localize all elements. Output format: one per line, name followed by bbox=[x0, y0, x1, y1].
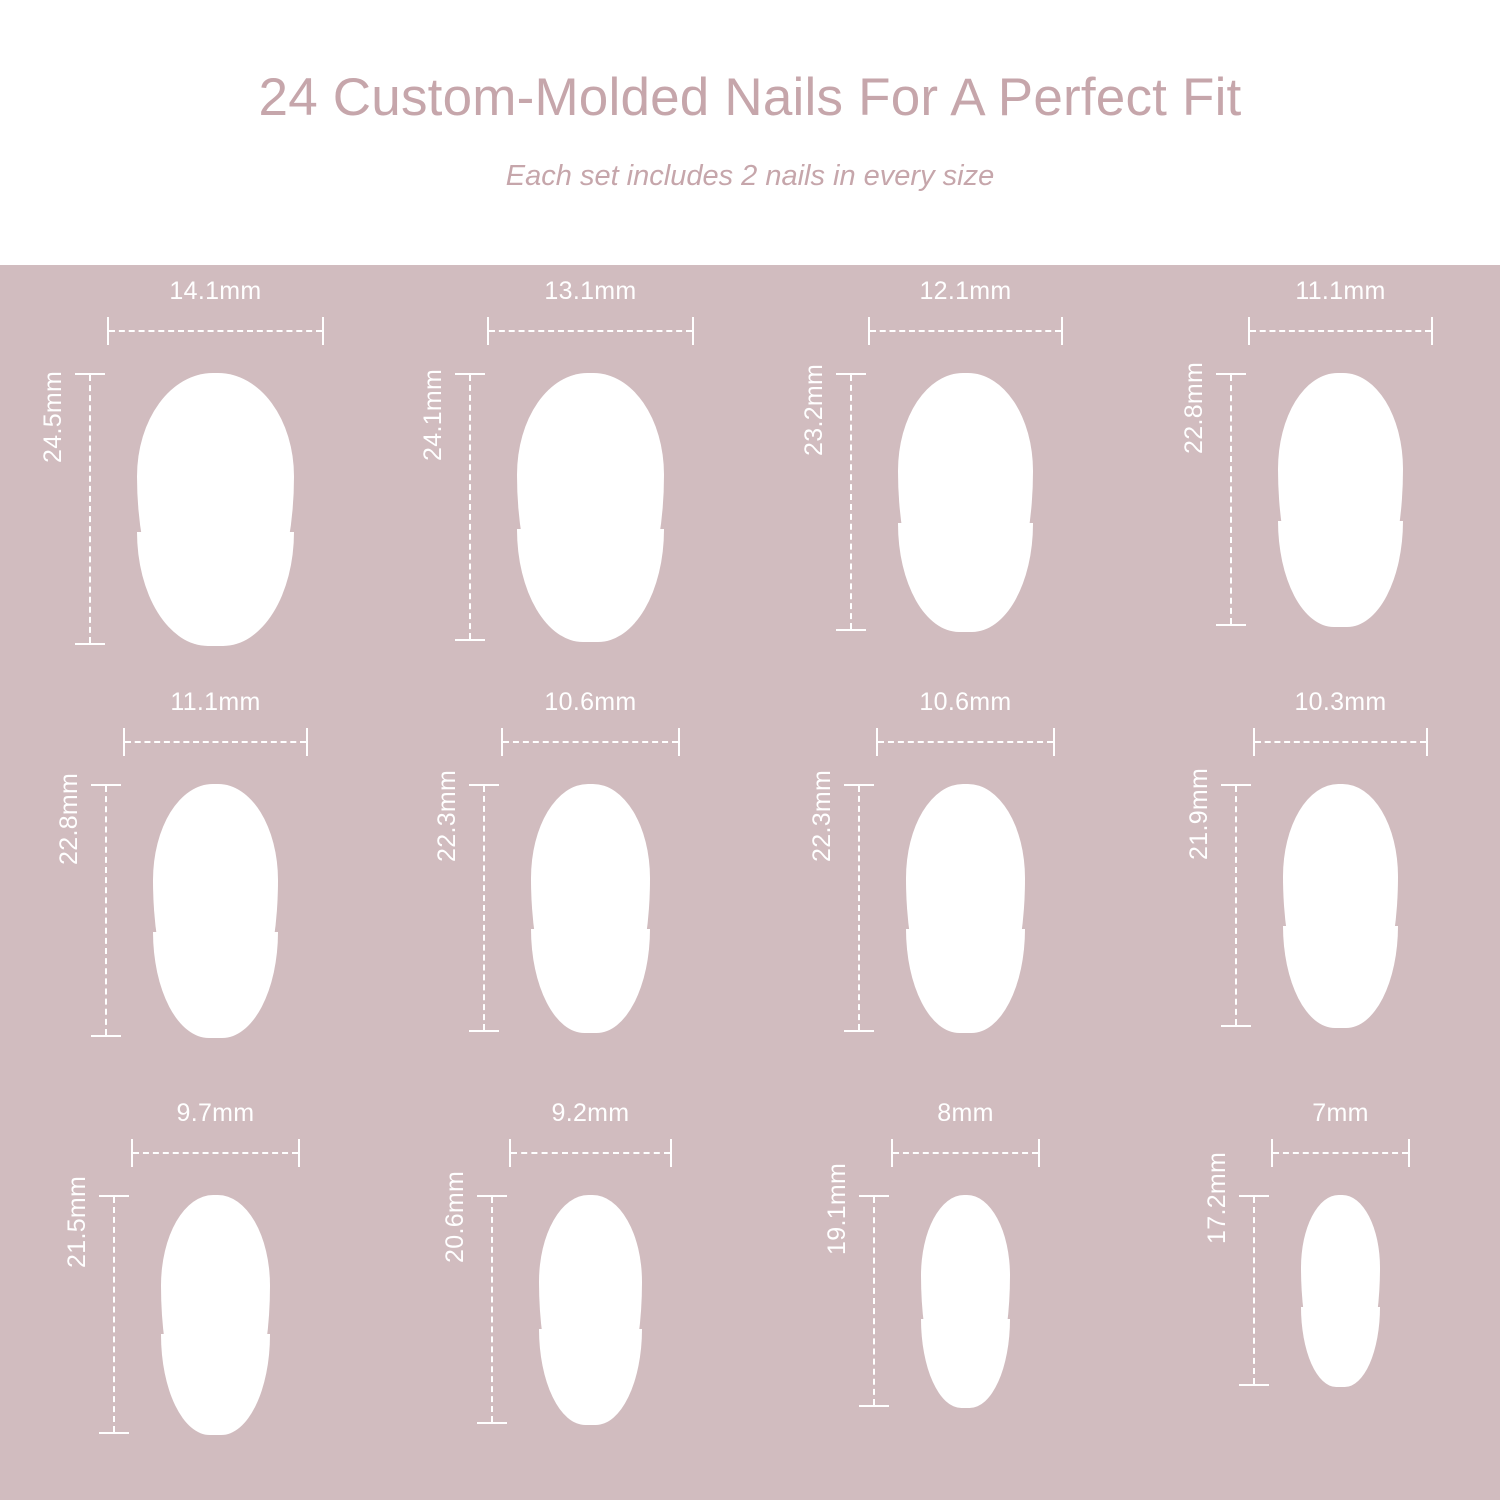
nail-width-dimension-line bbox=[487, 317, 694, 345]
width-dimension-cap-right bbox=[692, 317, 694, 345]
nail-width-label: 12.1mm bbox=[858, 279, 1074, 304]
nail-shape bbox=[921, 1195, 1011, 1407]
width-dimension-dashes bbox=[503, 741, 678, 743]
nail-shape bbox=[1278, 373, 1402, 626]
nail-size-cell-inner: 14.1mm24.5mm bbox=[0, 265, 375, 676]
width-dimension-cap-right bbox=[678, 728, 680, 756]
height-dimension-cap-bottom bbox=[836, 629, 866, 631]
nail-size-cell: 7mm17.2mm bbox=[1125, 1087, 1500, 1498]
nail-height-label: 22.8mm bbox=[57, 772, 82, 864]
nail-width-dimension-line bbox=[131, 1139, 300, 1167]
nail-size-cell-inner: 10.3mm21.9mm bbox=[1125, 676, 1500, 1087]
nail-width-label: 11.1mm bbox=[113, 690, 317, 715]
nail-size-cell-inner: 8mm19.1mm bbox=[750, 1087, 1125, 1498]
width-dimension-cap-right bbox=[1038, 1139, 1040, 1167]
height-dimension-cap-bottom bbox=[844, 1030, 874, 1032]
width-dimension-dashes bbox=[1250, 330, 1430, 332]
nail-size-chart: 14.1mm24.5mm13.1mm24.1mm12.1mm23.2mm11.1… bbox=[0, 265, 1500, 1500]
height-dimension-dashes bbox=[113, 1197, 115, 1432]
height-dimension-cap-bottom bbox=[477, 1422, 507, 1424]
nail-shape bbox=[531, 784, 650, 1032]
height-dimension-dashes bbox=[858, 786, 860, 1030]
height-dimension-dashes bbox=[1235, 786, 1237, 1025]
width-dimension-dashes bbox=[109, 330, 323, 332]
nail-size-cell-inner: 11.1mm22.8mm bbox=[1125, 265, 1500, 676]
nail-size-cell: 14.1mm24.5mm bbox=[0, 265, 375, 676]
nail-height-dimension-line bbox=[1239, 1195, 1269, 1386]
nail-width-dimension-line bbox=[501, 728, 680, 756]
nail-size-cell: 13.1mm24.1mm bbox=[375, 265, 750, 676]
nail-shape bbox=[517, 373, 664, 641]
height-dimension-cap-bottom bbox=[1239, 1384, 1269, 1386]
nail-height-label: 20.6mm bbox=[443, 1171, 468, 1263]
height-dimension-dashes bbox=[469, 375, 471, 639]
nail-width-dimension-line bbox=[123, 728, 307, 756]
height-dimension-cap-bottom bbox=[91, 1035, 121, 1037]
page-subtitle: Each set includes 2 nails in every size bbox=[506, 160, 994, 193]
width-dimension-cap-right bbox=[1061, 317, 1063, 345]
nail-size-cell: 11.1mm22.8mm bbox=[0, 676, 375, 1087]
nail-width-dimension-line bbox=[868, 317, 1064, 345]
header-band: 24 Custom-Molded Nails For A Perfect Fit… bbox=[0, 0, 1500, 265]
nail-size-cell: 8mm19.1mm bbox=[750, 1087, 1125, 1498]
nail-shape bbox=[539, 1195, 642, 1424]
nail-width-label: 10.6mm bbox=[866, 690, 1065, 715]
nail-shape bbox=[161, 1195, 270, 1434]
width-dimension-cap-right bbox=[298, 1139, 300, 1167]
nail-size-cell-inner: 13.1mm24.1mm bbox=[375, 265, 750, 676]
width-dimension-dashes bbox=[1255, 741, 1426, 743]
nail-shape bbox=[137, 373, 295, 645]
nail-size-cell: 10.3mm21.9mm bbox=[1125, 676, 1500, 1087]
width-dimension-dashes bbox=[878, 741, 1053, 743]
nail-width-label: 11.1mm bbox=[1238, 279, 1442, 304]
nail-height-label: 17.2mm bbox=[1205, 1152, 1230, 1244]
page-title: 24 Custom-Molded Nails For A Perfect Fit bbox=[259, 70, 1242, 126]
nail-width-dimension-line bbox=[891, 1139, 1041, 1167]
nail-width-label: 8mm bbox=[881, 1101, 1051, 1126]
nail-width-label: 9.2mm bbox=[499, 1101, 682, 1126]
nail-size-cell: 12.1mm23.2mm bbox=[750, 265, 1125, 676]
width-dimension-cap-right bbox=[1408, 1139, 1410, 1167]
width-dimension-dashes bbox=[133, 1152, 298, 1154]
nail-height-label: 24.5mm bbox=[41, 371, 66, 463]
nail-width-label: 10.6mm bbox=[491, 690, 690, 715]
nail-height-dimension-line bbox=[99, 1195, 129, 1434]
nail-size-cell-inner: 10.6mm22.3mm bbox=[750, 676, 1125, 1087]
nail-height-dimension-line bbox=[91, 784, 121, 1037]
nail-height-label: 22.3mm bbox=[810, 770, 835, 862]
nail-width-dimension-line bbox=[1253, 728, 1428, 756]
width-dimension-dashes bbox=[125, 741, 305, 743]
nail-shape bbox=[1283, 784, 1398, 1027]
width-dimension-cap-right bbox=[322, 317, 324, 345]
height-dimension-cap-bottom bbox=[455, 639, 485, 641]
nail-height-label: 24.1mm bbox=[421, 369, 446, 461]
nail-size-cell-inner: 7mm17.2mm bbox=[1125, 1087, 1500, 1498]
nail-height-dimension-line bbox=[836, 373, 866, 631]
nail-height-label: 19.1mm bbox=[825, 1163, 850, 1255]
nail-size-cell: 10.6mm22.3mm bbox=[750, 676, 1125, 1087]
width-dimension-cap-right bbox=[670, 1139, 672, 1167]
height-dimension-cap-bottom bbox=[1216, 624, 1246, 626]
nail-height-label: 22.8mm bbox=[1182, 361, 1207, 453]
nail-shape bbox=[1301, 1195, 1379, 1386]
width-dimension-cap-right bbox=[1053, 728, 1055, 756]
height-dimension-cap-bottom bbox=[99, 1432, 129, 1434]
width-dimension-dashes bbox=[1273, 1152, 1407, 1154]
nail-height-dimension-line bbox=[859, 1195, 889, 1407]
height-dimension-dashes bbox=[1230, 375, 1232, 624]
nail-height-dimension-line bbox=[469, 784, 499, 1032]
nail-width-label: 9.7mm bbox=[121, 1101, 310, 1126]
nail-height-dimension-line bbox=[844, 784, 874, 1032]
nail-height-label: 21.5mm bbox=[65, 1176, 90, 1268]
nail-height-label: 22.3mm bbox=[435, 770, 460, 862]
width-dimension-dashes bbox=[489, 330, 692, 332]
nail-size-cell-inner: 12.1mm23.2mm bbox=[750, 265, 1125, 676]
height-dimension-dashes bbox=[873, 1197, 875, 1405]
nail-size-cell: 11.1mm22.8mm bbox=[1125, 265, 1500, 676]
width-dimension-dashes bbox=[893, 1152, 1039, 1154]
height-dimension-dashes bbox=[105, 786, 107, 1035]
nail-height-dimension-line bbox=[1216, 373, 1246, 626]
width-dimension-dashes bbox=[511, 1152, 670, 1154]
nail-height-dimension-line bbox=[477, 1195, 507, 1424]
nail-shape bbox=[906, 784, 1025, 1032]
width-dimension-dashes bbox=[870, 330, 1062, 332]
nail-size-cell-inner: 9.2mm20.6mm bbox=[375, 1087, 750, 1498]
width-dimension-cap-right bbox=[306, 728, 308, 756]
nail-height-label: 21.9mm bbox=[1187, 767, 1212, 859]
nail-height-dimension-line bbox=[455, 373, 485, 641]
nail-height-dimension-line bbox=[1221, 784, 1251, 1027]
nail-size-cell: 10.6mm22.3mm bbox=[375, 676, 750, 1087]
height-dimension-dashes bbox=[491, 1197, 493, 1422]
height-dimension-cap-bottom bbox=[859, 1405, 889, 1407]
nail-width-label: 10.3mm bbox=[1243, 690, 1438, 715]
nail-shape bbox=[898, 373, 1034, 631]
height-dimension-cap-bottom bbox=[469, 1030, 499, 1032]
height-dimension-dashes bbox=[1253, 1197, 1255, 1384]
nail-size-cell-inner: 11.1mm22.8mm bbox=[0, 676, 375, 1087]
nail-size-cell: 9.2mm20.6mm bbox=[375, 1087, 750, 1498]
width-dimension-cap-right bbox=[1426, 728, 1428, 756]
height-dimension-cap-bottom bbox=[75, 643, 105, 645]
nail-width-dimension-line bbox=[876, 728, 1055, 756]
nail-width-dimension-line bbox=[1271, 1139, 1409, 1167]
nail-width-label: 13.1mm bbox=[477, 279, 704, 304]
height-dimension-cap-bottom bbox=[1221, 1025, 1251, 1027]
nail-size-cell-inner: 10.6mm22.3mm bbox=[375, 676, 750, 1087]
nail-size-grid: 14.1mm24.5mm13.1mm24.1mm12.1mm23.2mm11.1… bbox=[0, 265, 1500, 1500]
nail-width-dimension-line bbox=[509, 1139, 672, 1167]
nail-height-dimension-line bbox=[75, 373, 105, 645]
nail-width-label: 7mm bbox=[1261, 1101, 1419, 1126]
nail-size-cell-inner: 9.7mm21.5mm bbox=[0, 1087, 375, 1498]
nail-width-dimension-line bbox=[1248, 317, 1432, 345]
width-dimension-cap-right bbox=[1431, 317, 1433, 345]
nail-height-label: 23.2mm bbox=[802, 364, 827, 456]
nail-size-cell: 9.7mm21.5mm bbox=[0, 1087, 375, 1498]
height-dimension-dashes bbox=[850, 375, 852, 629]
height-dimension-dashes bbox=[483, 786, 485, 1030]
nail-width-label: 14.1mm bbox=[97, 279, 335, 304]
nail-shape bbox=[153, 784, 277, 1037]
height-dimension-dashes bbox=[89, 375, 91, 643]
nail-width-dimension-line bbox=[107, 317, 325, 345]
